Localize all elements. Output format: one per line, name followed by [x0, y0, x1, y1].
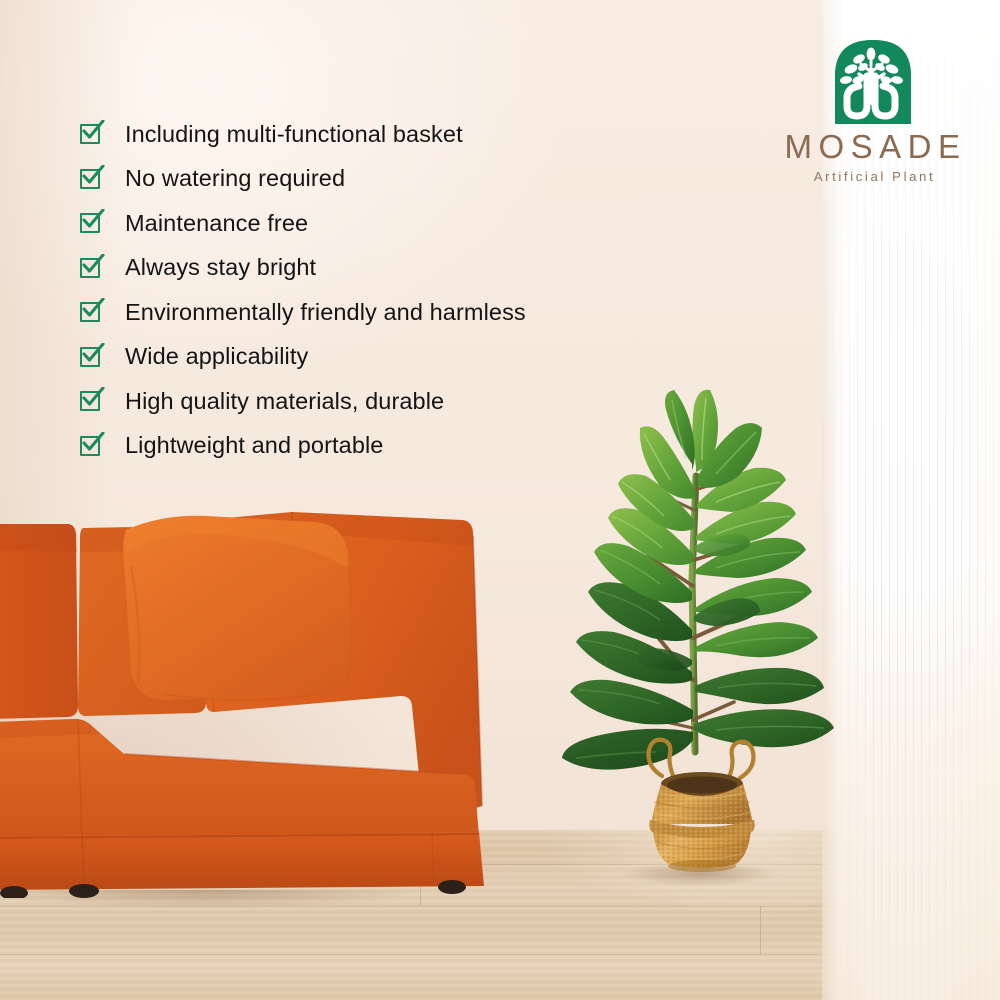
- checkbox-checked-icon: [78, 210, 104, 236]
- list-item: Environmentally friendly and harmless: [78, 290, 638, 335]
- curtain-warm-tint: [822, 560, 1000, 1000]
- list-item: Wide applicability: [78, 335, 638, 380]
- feature-list: Including multi-functional basket No wat…: [78, 112, 638, 468]
- checkbox-checked-icon: [78, 121, 104, 147]
- brand-wordmark: MOSADE: [770, 130, 975, 163]
- list-item: No watering required: [78, 157, 638, 202]
- brand-logo: MOSADE Artificial Plant: [770, 36, 975, 183]
- list-item: Lightweight and portable: [78, 424, 638, 469]
- sofa-base: [0, 832, 484, 890]
- basket-handle-right: [728, 742, 753, 780]
- list-item: Maintenance free: [78, 201, 638, 246]
- checkbox-checked-icon: [78, 255, 104, 281]
- list-item: Always stay bright: [78, 246, 638, 291]
- list-item: High quality materials, durable: [78, 379, 638, 424]
- checkbox-checked-icon: [78, 433, 104, 459]
- feature-label: Environmentally friendly and harmless: [125, 301, 526, 325]
- checkbox-checked-icon: [78, 166, 104, 192]
- sofa-seat-cushion: [0, 719, 479, 842]
- feature-label: Lightweight and portable: [125, 434, 383, 458]
- brand-tagline: Artificial Plant: [770, 170, 975, 183]
- sofa: [0, 506, 567, 898]
- product-lifestyle-image: Including multi-functional basket No wat…: [0, 0, 1000, 1000]
- checkbox-checked-icon: [78, 344, 104, 370]
- feature-label: Always stay bright: [125, 256, 316, 280]
- feature-label: Including multi-functional basket: [125, 123, 463, 147]
- basket-handle-left: [649, 740, 674, 778]
- seagrass-basket: [632, 732, 772, 872]
- checkbox-checked-icon: [78, 299, 104, 325]
- tree-in-arch-icon: [829, 36, 917, 124]
- sofa-foot: [69, 884, 99, 898]
- list-item: Including multi-functional basket: [78, 112, 638, 157]
- feature-label: No watering required: [125, 167, 345, 191]
- feature-label: Wide applicability: [125, 345, 308, 369]
- sofa-foot: [438, 880, 466, 894]
- feature-label: Maintenance free: [125, 212, 308, 236]
- feature-label: High quality materials, durable: [125, 390, 444, 414]
- checkbox-checked-icon: [78, 388, 104, 414]
- sofa-back-cushion-left: [0, 524, 78, 719]
